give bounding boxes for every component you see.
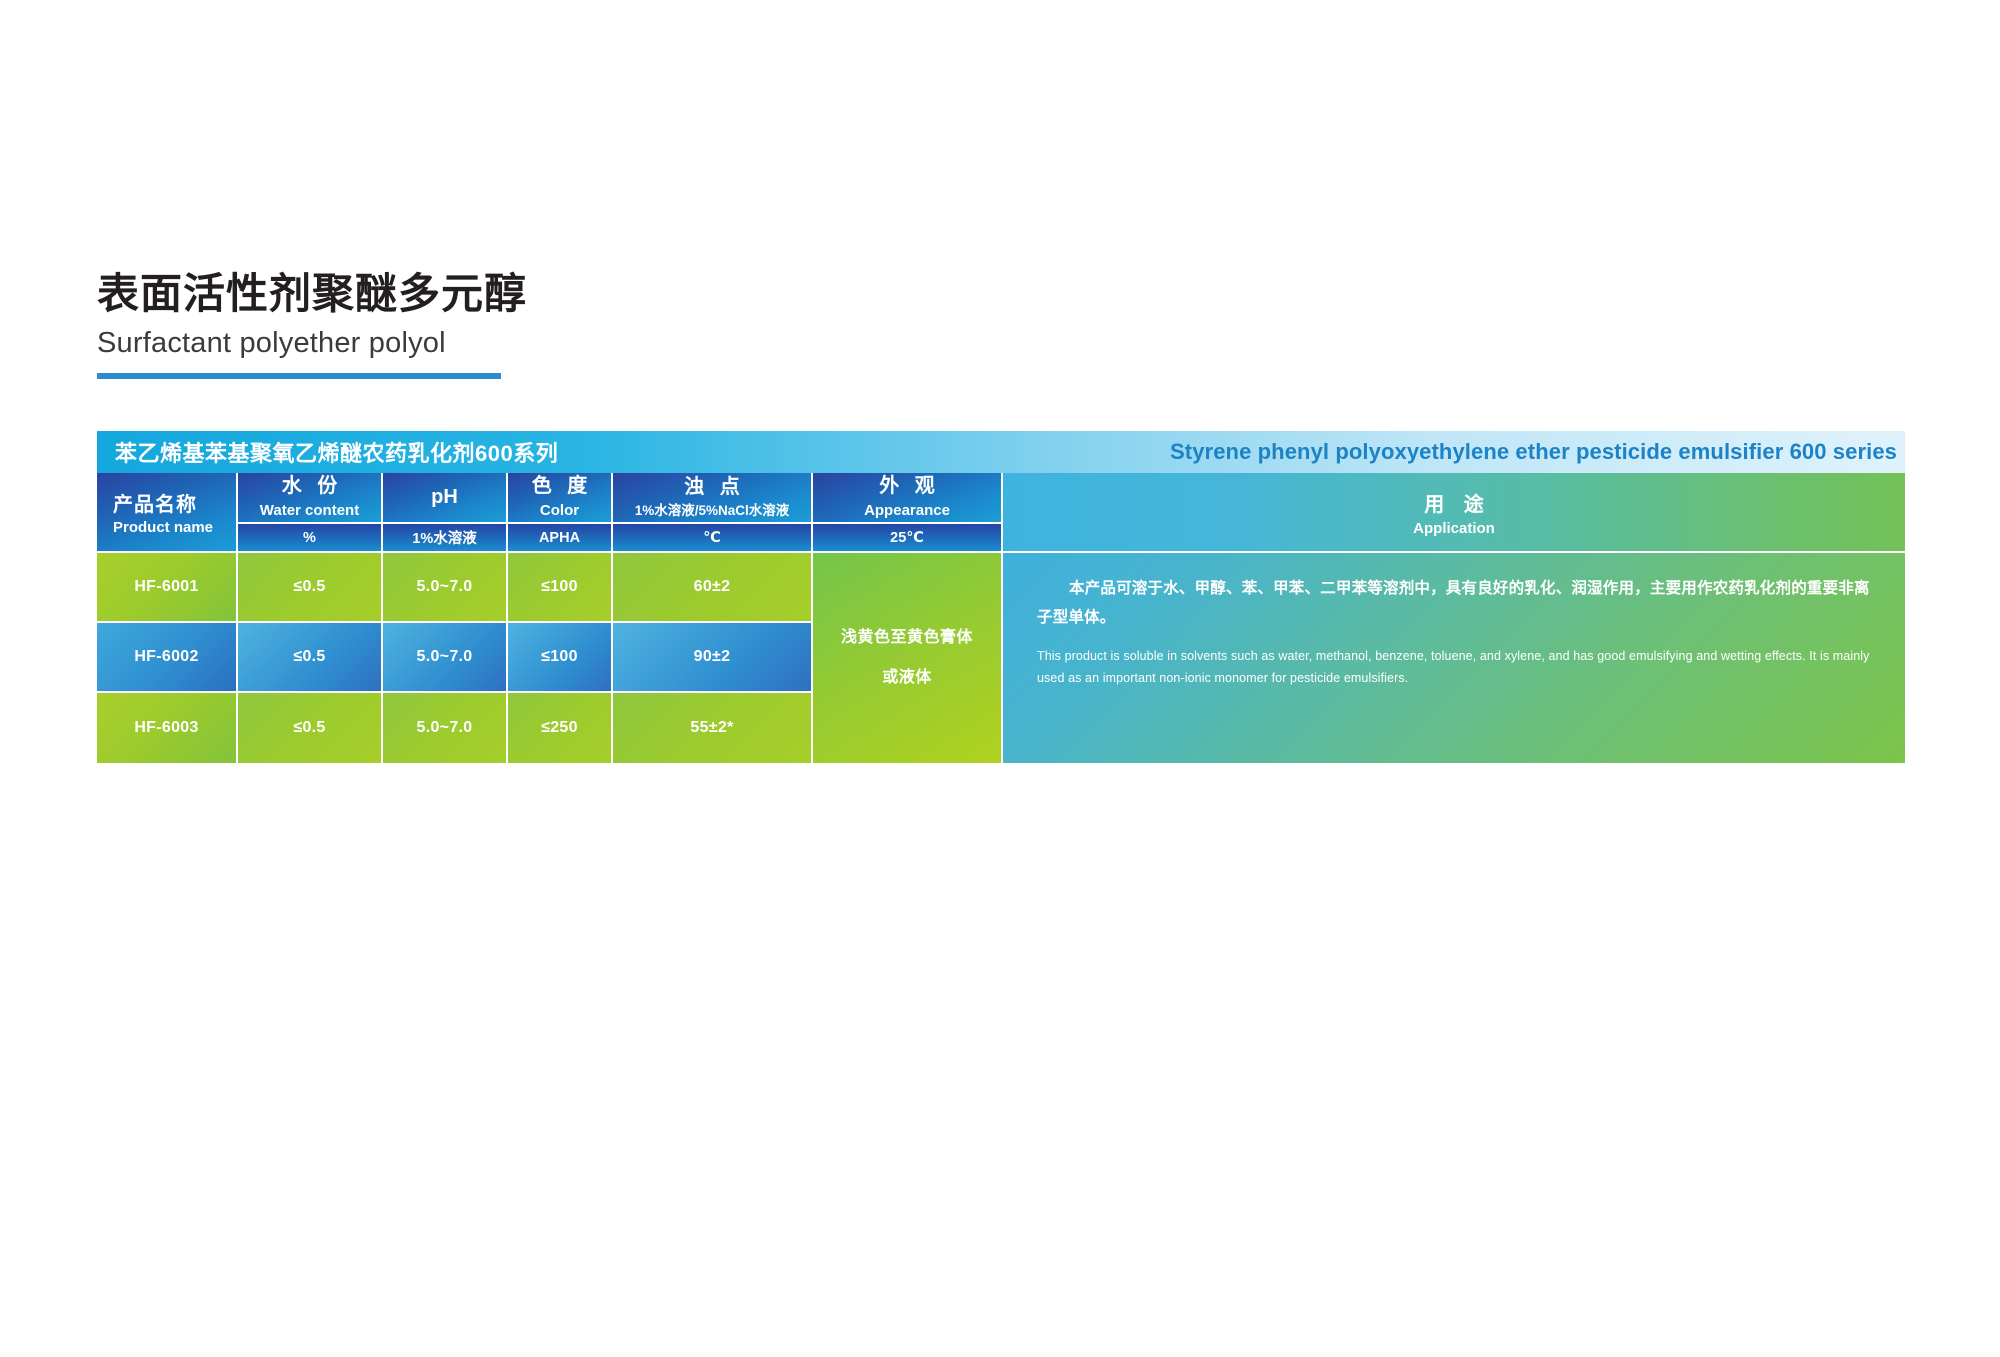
header-color-unit: APHA (508, 524, 611, 551)
application-text-en: This product is soluble in solvents such… (1037, 646, 1873, 690)
header-ph-label: pH (431, 486, 458, 510)
header-cloud-point: 浊 点 1%水溶液/5%NaCl水溶液 (613, 473, 811, 522)
table-row: HF-6003 (97, 693, 236, 763)
header-water-content-cn: 水 份 (277, 475, 343, 499)
series-title-cn: 苯乙烯基苯基聚氧乙烯醚农药乳化剂600系列 (115, 436, 558, 468)
table-cell-water: ≤0.5 (238, 693, 381, 763)
table-row: HF-6002 (97, 623, 236, 691)
header-cloud-point-cn: 浊 点 (679, 476, 745, 500)
header-water-content-en: Water content (260, 502, 359, 520)
header-product-name: 产品名称 Product name (97, 473, 236, 551)
cell-value-water: ≤0.5 (293, 719, 325, 737)
cell-application-value: 本产品可溶于水、甲醇、苯、甲苯、二甲苯等溶剂中，具有良好的乳化、润湿作用，主要用… (1003, 553, 1905, 763)
cell-product-name: HF-6001 (134, 578, 198, 596)
header-appearance-unit: 25℃ (813, 524, 1001, 551)
cell-value-ph: 5.0~7.0 (417, 648, 473, 666)
table-cell-color: ≤250 (508, 693, 611, 763)
header-appearance: 外 观 Appearance (813, 473, 1001, 522)
header-cloud-point-unit-text: ℃ (703, 530, 721, 546)
spec-table: 苯乙烯基苯基聚氧乙烯醚农药乳化剂600系列 Styrene phenyl pol… (97, 431, 1905, 765)
page-heading: 表面活性剂聚醚多元醇 Surfactant polyether polyol (97, 270, 527, 379)
header-water-content: 水 份 Water content (238, 473, 381, 522)
series-title-bar: 苯乙烯基苯基聚氧乙烯醚农药乳化剂600系列 Styrene phenyl pol… (97, 431, 1905, 473)
header-application-en: Application (1413, 520, 1495, 537)
header-ph-unit-text: 1%水溶液 (412, 527, 476, 548)
page-title-cn: 表面活性剂聚醚多元醇 (97, 270, 527, 318)
cell-product-name: HF-6002 (134, 648, 198, 666)
cell-value-ph: 5.0~7.0 (417, 578, 473, 596)
header-application: 用 途 Application (1003, 473, 1905, 551)
series-title-en: Styrene phenyl polyoxyethylene ether pes… (1170, 439, 1897, 465)
appearance-value-line2: 或液体 (882, 669, 932, 687)
table-cell-ph: 5.0~7.0 (383, 623, 506, 691)
spec-table-grid: 产品名称 Product name 水 份 Water content % pH… (97, 473, 1905, 765)
header-application-cn: 用 途 (1417, 488, 1491, 517)
table-cell-ph: 5.0~7.0 (383, 553, 506, 621)
table-cell-cloud: 55±2* (613, 693, 811, 763)
cell-value-color: ≤250 (541, 719, 578, 737)
cell-value-water: ≤0.5 (293, 648, 325, 666)
header-color-unit-text: APHA (539, 530, 580, 546)
header-water-content-unit-text: % (303, 530, 316, 546)
header-water-content-unit: % (238, 524, 381, 551)
header-color: 色 度 Color (508, 473, 611, 522)
header-appearance-cn: 外 观 (874, 475, 940, 499)
cell-value-ph: 5.0~7.0 (417, 719, 473, 737)
header-color-cn: 色 度 (527, 475, 593, 499)
cell-value-water: ≤0.5 (293, 578, 325, 596)
cell-value-color: ≤100 (541, 648, 578, 666)
table-cell-cloud: 90±2 (613, 623, 811, 691)
cell-appearance-value: 浅黄色至黄色膏体 或液体 (813, 553, 1001, 763)
cell-value-cloud: 60±2 (694, 578, 731, 596)
title-underline-rule (97, 373, 501, 379)
table-cell-water: ≤0.5 (238, 623, 381, 691)
appearance-value-line1: 浅黄色至黄色膏体 (841, 629, 973, 647)
header-product-name-cn: 产品名称 (113, 488, 197, 517)
header-ph: pH (383, 473, 506, 522)
header-ph-unit: 1%水溶液 (383, 524, 506, 551)
table-cell-cloud: 60±2 (613, 553, 811, 621)
header-product-name-en: Product name (113, 519, 213, 536)
table-row: HF-6001 (97, 553, 236, 621)
cell-value-cloud: 90±2 (694, 648, 731, 666)
application-text-cn: 本产品可溶于水、甲醇、苯、甲苯、二甲苯等溶剂中，具有良好的乳化、润湿作用，主要用… (1037, 575, 1873, 632)
header-color-en: Color (540, 502, 579, 520)
table-cell-ph: 5.0~7.0 (383, 693, 506, 763)
cell-value-color: ≤100 (541, 578, 578, 596)
page-title-en: Surfactant polyether polyol (97, 327, 527, 360)
header-appearance-unit-text: 25℃ (890, 530, 924, 546)
table-cell-color: ≤100 (508, 623, 611, 691)
header-cloud-point-unit: ℃ (613, 524, 811, 551)
table-cell-water: ≤0.5 (238, 553, 381, 621)
header-cloud-point-en: 1%水溶液/5%NaCl水溶液 (635, 503, 790, 519)
cell-product-name: HF-6003 (134, 719, 198, 737)
table-cell-color: ≤100 (508, 553, 611, 621)
header-appearance-en: Appearance (864, 502, 950, 520)
cell-value-cloud: 55±2* (690, 719, 733, 737)
product-spec-page: 表面活性剂聚醚多元醇 Surfactant polyether polyol 苯… (0, 0, 2000, 1357)
